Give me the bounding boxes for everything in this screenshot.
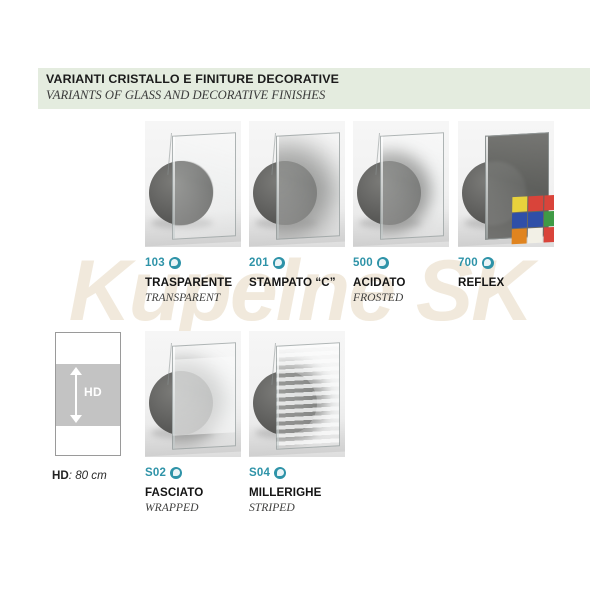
glass-pane <box>380 132 444 240</box>
page-title: VARIANTI CRISTALLO E FINITURE DECORATIVE <box>46 72 339 86</box>
finish-name-it: MILLERIGHE <box>249 486 345 499</box>
color-swatch <box>528 196 543 212</box>
hd-caption: HD: 80 cm <box>52 469 107 482</box>
color-swatch <box>528 228 543 244</box>
finish-code: 103 <box>145 257 165 269</box>
droplet-icon <box>169 257 181 269</box>
finish-card-201[interactable]: 201 STAMPATO “C” <box>249 121 345 291</box>
color-swatch <box>544 227 554 243</box>
glass-pane <box>172 132 236 240</box>
pane-edge-highlight <box>173 137 175 239</box>
pane-edge-highlight <box>173 347 175 449</box>
finish-code: 700 <box>458 257 478 269</box>
droplet-icon <box>274 467 286 479</box>
finish-code-row: 500 <box>353 256 449 270</box>
finish-code: 500 <box>353 257 373 269</box>
finish-card-s04[interactable]: S04 MILLERIGHE STRIPED <box>249 331 345 514</box>
color-reference-chart <box>512 195 554 244</box>
finish-code-row: 201 <box>249 256 345 270</box>
finish-thumbnail-s02[interactable] <box>145 331 241 457</box>
color-swatch <box>544 211 554 227</box>
finish-card-103[interactable]: 103 TRASPARENTE TRANSPARENT <box>145 121 241 304</box>
hd-dimension-diagram: HD <box>55 332 121 456</box>
finish-thumbnail-500[interactable] <box>353 121 449 247</box>
finish-name-it: ACIDATO <box>353 276 449 289</box>
section-header-band: VARIANTI CRISTALLO E FINITURE DECORATIVE… <box>38 68 590 109</box>
finish-thumbnail-700[interactable] <box>458 121 554 247</box>
glass-pane <box>276 342 340 450</box>
finish-code: S02 <box>145 467 166 479</box>
droplet-icon <box>377 257 389 269</box>
finish-name-it: REFLEX <box>458 276 554 289</box>
color-swatch <box>512 228 527 244</box>
finish-code-row: S04 <box>249 466 345 480</box>
glass-pane <box>276 132 340 240</box>
finish-name-en: STRIPED <box>249 501 345 514</box>
finish-code-row: S02 <box>145 466 241 480</box>
finish-thumbnail-201[interactable] <box>249 121 345 247</box>
color-swatch <box>512 196 527 212</box>
finish-name-it: TRASPARENTE <box>145 276 241 289</box>
finish-name-en: WRAPPED <box>145 501 241 514</box>
finish-code: 201 <box>249 257 269 269</box>
color-swatch <box>512 212 527 228</box>
color-swatch <box>528 212 543 228</box>
droplet-icon <box>273 257 285 269</box>
hd-double-arrow-icon <box>69 367 83 423</box>
droplet-icon <box>170 467 182 479</box>
finish-name-it: FASCIATO <box>145 486 241 499</box>
finish-card-s02[interactable]: S02 FASCIATO WRAPPED <box>145 331 241 514</box>
pane-edge-highlight <box>277 137 279 239</box>
hd-caption-value: : 80 cm <box>69 469 107 482</box>
finish-name-en: TRANSPARENT <box>145 291 241 304</box>
hd-arrow-label: HD <box>84 385 102 399</box>
pane-edge-highlight <box>381 137 383 239</box>
finish-code: S04 <box>249 467 270 479</box>
finish-card-700[interactable]: 700 REFLEX <box>458 121 554 291</box>
finish-name-en: FROSTED <box>353 291 449 304</box>
hd-caption-label: HD <box>52 469 69 482</box>
glass-pane <box>172 342 236 450</box>
pane-edge-highlight <box>277 347 279 449</box>
finish-name-it: STAMPATO “C” <box>249 276 345 289</box>
finish-thumbnail-103[interactable] <box>145 121 241 247</box>
arrow-shaft <box>75 373 77 417</box>
color-swatch <box>544 195 554 211</box>
finish-code-row: 103 <box>145 256 241 270</box>
finish-thumbnail-s04[interactable] <box>249 331 345 457</box>
finish-code-row: 700 <box>458 256 554 270</box>
droplet-icon <box>482 257 494 269</box>
finish-card-500[interactable]: 500 ACIDATO FROSTED <box>353 121 449 304</box>
page-subtitle: VARIANTS OF GLASS AND DECORATIVE FINISHE… <box>46 88 325 103</box>
pane-edge-highlight <box>486 137 488 239</box>
arrow-head-down <box>70 415 82 423</box>
